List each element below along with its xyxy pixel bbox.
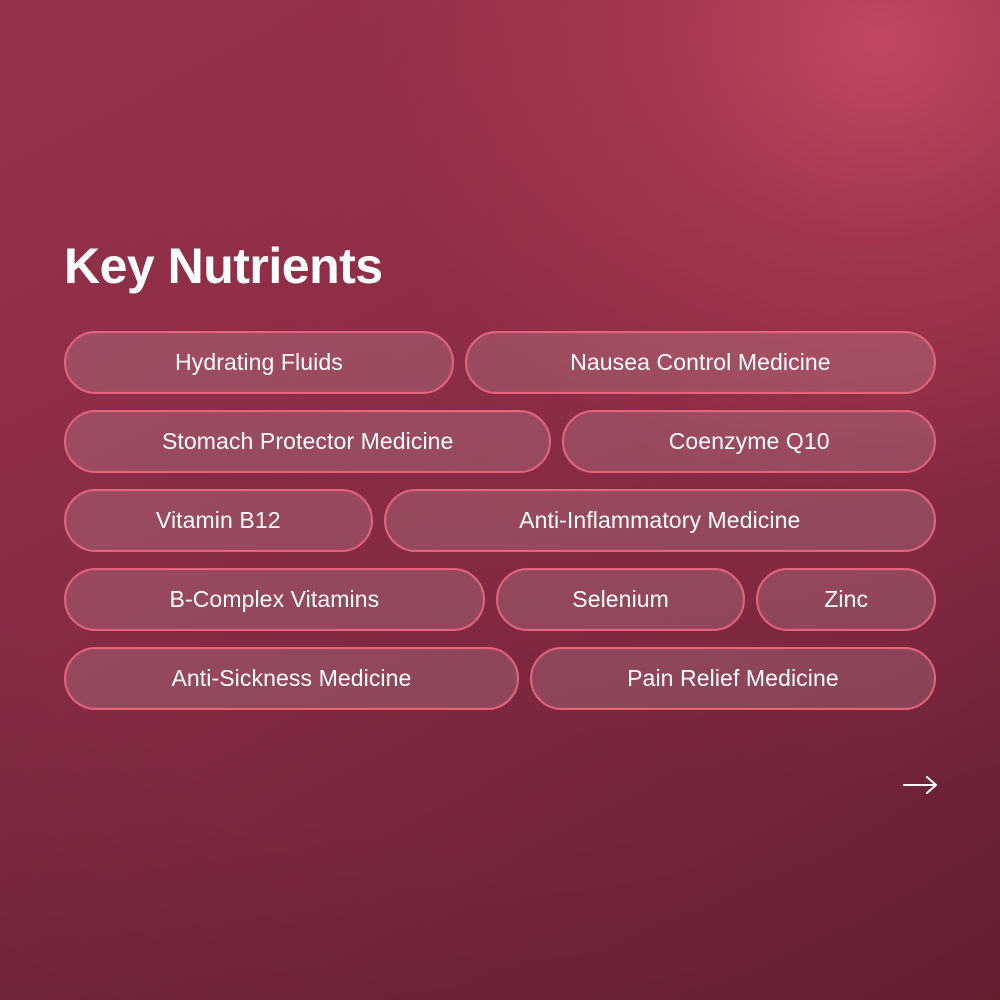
chip-row: Vitamin B12Anti-Inflammatory Medicine xyxy=(64,489,936,552)
nutrient-chip[interactable]: B-Complex Vitamins xyxy=(64,568,485,631)
slide-canvas: Key Nutrients Hydrating FluidsNausea Con… xyxy=(0,0,1000,1000)
nutrient-chip[interactable]: Anti-Sickness Medicine xyxy=(64,647,519,710)
nutrient-chip-list: Hydrating FluidsNausea Control MedicineS… xyxy=(64,331,936,710)
nutrient-chip[interactable]: Vitamin B12 xyxy=(64,489,373,552)
chip-row: Stomach Protector MedicineCoenzyme Q10 xyxy=(64,410,936,473)
nutrient-chip[interactable]: Zinc xyxy=(756,568,936,631)
page-title: Key Nutrients xyxy=(64,240,936,293)
nutrient-chip[interactable]: Coenzyme Q10 xyxy=(562,410,936,473)
chip-row: Anti-Sickness MedicinePain Relief Medici… xyxy=(64,647,936,710)
chip-row: B-Complex VitaminsSeleniumZinc xyxy=(64,568,936,631)
chip-row: Hydrating FluidsNausea Control Medicine xyxy=(64,331,936,394)
nutrient-chip[interactable]: Hydrating Fluids xyxy=(64,331,454,394)
nutrient-chip[interactable]: Pain Relief Medicine xyxy=(530,647,936,710)
nutrient-chip[interactable]: Stomach Protector Medicine xyxy=(64,410,551,473)
nutrient-chip[interactable]: Nausea Control Medicine xyxy=(465,331,936,394)
next-slide-button[interactable] xyxy=(902,770,942,800)
nutrient-chip[interactable]: Anti-Inflammatory Medicine xyxy=(384,489,936,552)
nutrient-chip[interactable]: Selenium xyxy=(496,568,746,631)
arrow-right-icon xyxy=(902,774,942,796)
slide-content: Key Nutrients Hydrating FluidsNausea Con… xyxy=(64,240,936,710)
